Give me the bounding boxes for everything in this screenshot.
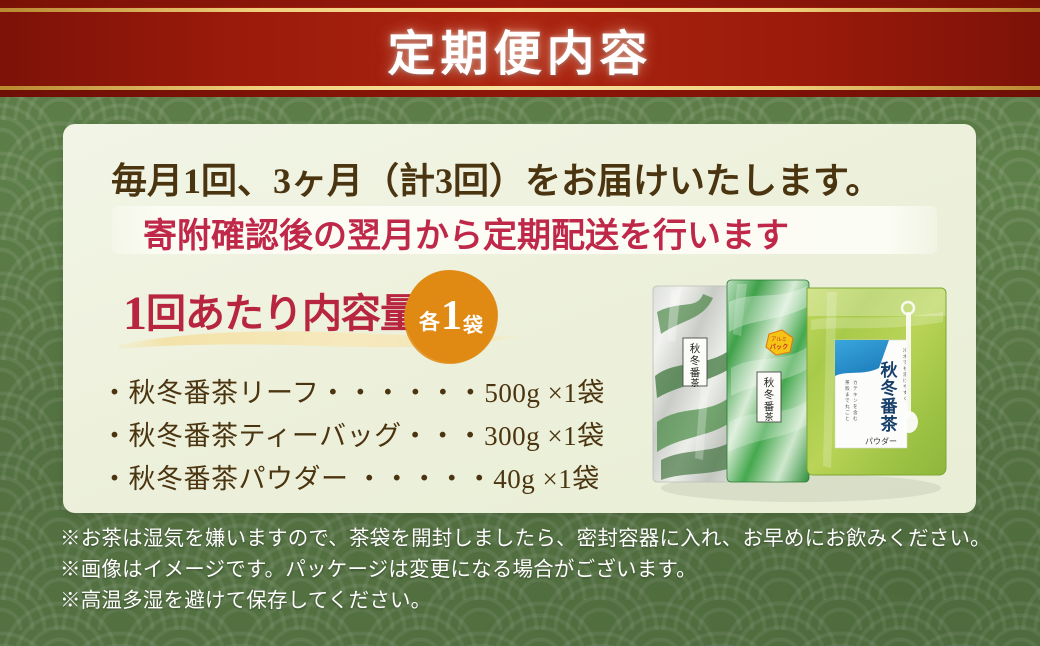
svg-text:む: む: [853, 416, 858, 421]
badge-suffix: 袋: [463, 309, 483, 338]
item-amount: 500g ×1袋: [484, 378, 604, 408]
svg-text:秋: 秋: [764, 376, 775, 389]
item-amount: 40g ×1袋: [493, 464, 599, 494]
svg-text:秋: 秋: [690, 342, 701, 355]
list-item: ・秋冬番茶パウダー ・・・・・40g ×1袋: [101, 458, 701, 501]
product-pouch-powder: 秋 冬 番 茶 パウダー 冷水で も溶け やすく 茶殻ま で丸ご と カテキ ン…: [807, 288, 946, 475]
list-item: ・秋冬番茶ティーバッグ・・・300g ×1袋: [101, 415, 701, 458]
badge-prefix: 各: [419, 306, 440, 336]
svg-text:殻: 殻: [845, 385, 850, 392]
per-item-badge: 各 1 袋: [405, 270, 497, 362]
product-photos-illustration: 秋 冬 番 茶: [641, 272, 961, 512]
svg-text:茶: 茶: [764, 411, 773, 422]
svg-text:茶: 茶: [845, 379, 850, 385]
svg-text:丸: 丸: [845, 403, 850, 410]
page-title: 定期便内容: [0, 13, 1040, 85]
delivery-start-line: 寄附確認後の翌月から定期配送を行います: [143, 208, 943, 257]
header-top-strip: [0, 0, 1040, 7]
product-photo-group: 秋 冬 番 茶: [641, 272, 961, 512]
badge-number: 1: [440, 292, 463, 340]
svg-text:秋: 秋: [881, 360, 899, 380]
item-name: ・秋冬番茶パウダー ・・・・・: [101, 464, 493, 494]
svg-text:ご: ご: [845, 409, 850, 415]
svg-text:茶: 茶: [881, 414, 899, 434]
svg-text:を: を: [853, 403, 858, 409]
quantity-heading: 1回あたり内容量: [123, 281, 419, 341]
product-bag-green: アルミ パック 秋 冬 番 茶: [727, 280, 809, 482]
badge-text: 各 1 袋: [405, 270, 497, 362]
svg-text:ン: ン: [853, 398, 858, 403]
quantity-heading-number: 1: [123, 287, 146, 340]
product-bag-silver: 秋 冬 番 茶: [653, 286, 731, 482]
item-name: ・秋冬番茶リーフ・・・・・・: [101, 378, 484, 408]
svg-text:冬: 冬: [881, 378, 898, 398]
svg-text:アルミ: アルミ: [771, 336, 787, 343]
svg-text:冬: 冬: [690, 354, 701, 367]
product-list: ・秋冬番茶リーフ・・・・・・500g ×1袋 ・秋冬番茶ティーバッグ・・・300…: [101, 372, 701, 501]
svg-text:パック: パック: [770, 343, 789, 351]
product-info-graphic: 定期便内容 毎月1回、3ヶ月（計3回）をお届けいたします。 寄附確認後の翌月から…: [0, 0, 1040, 646]
header-gold-rule-top: [0, 8, 1040, 12]
svg-text:パウダー: パウダー: [865, 436, 897, 446]
footnote: ※画像はイメージです。パッケージは変更になる場合がございます。: [60, 555, 1010, 586]
delivery-schedule-line: 毎月1回、3ヶ月（計3回）をお届けいたします。: [111, 152, 941, 204]
svg-text:キ: キ: [853, 392, 858, 397]
item-amount: 300g ×1袋: [484, 421, 604, 451]
svg-text:冬: 冬: [764, 388, 775, 401]
footnote: ※高温多湿を避けて保存してください。: [60, 586, 1010, 617]
item-name: ・秋冬番茶ティーバッグ・・・: [101, 421, 484, 451]
quantity-heading-group: 1回あたり内容量 各 1 袋: [113, 276, 583, 356]
svg-text:茶: 茶: [690, 377, 699, 388]
footnotes: ※お茶は湿気を嫌いますので、茶袋を開封しましたら、密封容器に入れ、お早めにお飲み…: [60, 524, 1010, 617]
content-card: 毎月1回、3ヶ月（計3回）をお届けいたします。 寄附確認後の翌月から定期配送を行…: [63, 124, 976, 513]
svg-text:と: と: [845, 416, 850, 421]
header-banner: 定期便内容: [0, 0, 1040, 97]
svg-text:番: 番: [880, 397, 899, 416]
svg-text:で: で: [845, 398, 850, 403]
svg-text:ま: ま: [845, 392, 850, 397]
footnote: ※お茶は湿気を嫌いますので、茶袋を開封しましたら、密封容器に入れ、お早めにお飲み…: [60, 524, 1010, 555]
svg-text:含: 含: [853, 409, 858, 416]
quantity-heading-text: 回あたり内容量: [146, 291, 419, 336]
header-bottom-strip: [0, 90, 1040, 97]
list-item: ・秋冬番茶リーフ・・・・・・500g ×1袋: [101, 372, 701, 415]
